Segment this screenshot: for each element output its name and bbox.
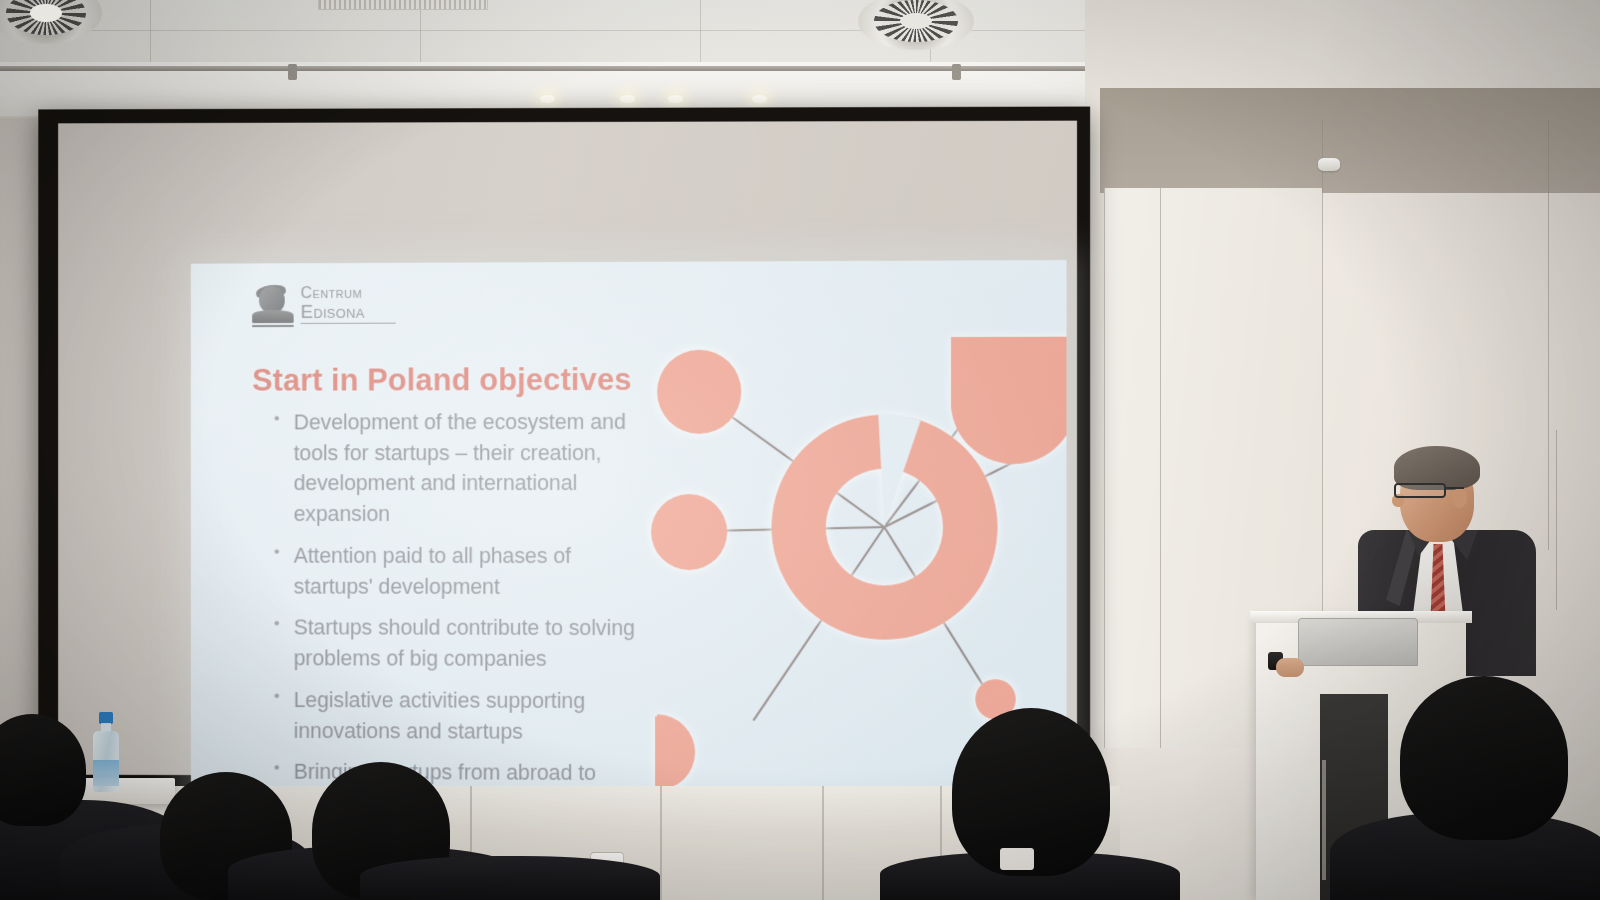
projection-screen-frame: Centrum Edisona Start in Poland objectiv… <box>38 107 1090 800</box>
logo-line-2: Edisona <box>301 303 396 322</box>
node-circle-lower-left <box>651 494 727 570</box>
ceiling-downlight-icon <box>752 95 767 103</box>
cabinet-seam <box>1548 120 1549 550</box>
portrait-bust-icon <box>252 285 294 325</box>
water-bottle <box>92 712 120 792</box>
presenter-hand <box>1276 658 1304 677</box>
bullet-item: Legislative activities supporting innova… <box>272 685 652 748</box>
node-circle-upper-left <box>657 350 741 434</box>
node-fan-top-right <box>951 337 1067 464</box>
conference-room-photo: Centrum Edisona Start in Poland objectiv… <box>0 0 1600 900</box>
audience-collar <box>1000 848 1034 870</box>
cabinet-seam <box>1556 430 1557 610</box>
bullet-item: Attention paid to all phases of startups… <box>272 541 652 603</box>
rail-clip <box>952 64 961 80</box>
presentation-slide: Centrum Edisona Start in Poland objectiv… <box>191 260 1067 865</box>
podium-recess-edge <box>1322 760 1326 880</box>
centrum-edisona-logo: Centrum Edisona <box>252 285 396 325</box>
logo-wordmark: Centrum Edisona <box>301 286 396 324</box>
projection-screen-surface: Centrum Edisona Start in Poland objectiv… <box>58 121 1077 778</box>
slide-title: Start in Poland objectives <box>252 362 631 399</box>
rail-clip <box>288 64 297 80</box>
upper-wall-recess <box>1100 88 1600 193</box>
cabinet-seam <box>1160 188 1161 748</box>
eyeglasses-icon <box>1394 483 1446 498</box>
audience-head <box>1400 676 1568 840</box>
apple-logo-icon <box>1349 637 1366 656</box>
smoke-detector-icon <box>1318 158 1340 171</box>
bullet-item: Startups should contribute to solving pr… <box>272 613 652 675</box>
node-half-disc-bottom-left <box>657 714 695 790</box>
ceiling-rail <box>0 66 1118 71</box>
ceiling-vent <box>318 0 488 10</box>
ceiling-downlight-icon <box>668 95 683 103</box>
ceiling-downlight-icon <box>540 95 555 103</box>
slide-bullet-list: Development of the ecosystem and tools f… <box>272 407 652 831</box>
logo-line-1: Centrum <box>301 286 396 302</box>
cabinet-seam <box>822 786 824 900</box>
audience-shoulders <box>360 856 660 900</box>
cabinet-seam <box>660 786 662 900</box>
ceiling-downlight-icon <box>620 95 635 103</box>
bullet-item: Development of the ecosystem and tools f… <box>272 407 652 530</box>
